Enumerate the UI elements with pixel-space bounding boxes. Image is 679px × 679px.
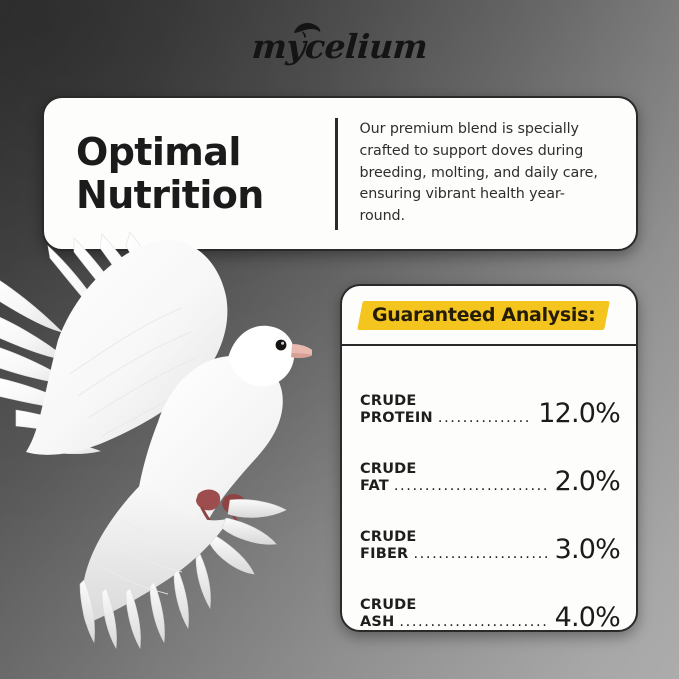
dot-leader: ........................................… [438,410,530,428]
nutrient-category: CRUDE [360,597,547,615]
brand-logo: mycelium [0,24,679,70]
dove-feet [196,490,245,530]
nutrient-value: 2.0% [555,468,620,496]
page-title-line-2: Nutrition [76,174,331,217]
headline-description: Our premium blend is specially crafted t… [360,119,611,228]
analysis-header-label: Guaranteed Analysis: [372,304,595,326]
nutrient-name: FAT [360,478,389,496]
analysis-header: Guaranteed Analysis: [342,286,636,346]
table-row: CRUDE PROTEIN ..........................… [360,360,620,428]
headline-card: Optimal Nutrition Our premium blend is s… [42,96,638,251]
dot-leader: ........................................… [399,614,546,632]
table-row: CRUDE FAT ..............................… [360,428,620,496]
nutrient-value: 4.0% [555,604,620,632]
nutrient-category: CRUDE [360,393,530,411]
brand-name: mycelium [250,24,428,70]
dove-image [0,232,312,652]
dot-leader: ........................................… [394,478,547,496]
dove-eye [276,340,287,351]
page-title: Optimal Nutrition [76,131,331,216]
nutrient-name: ASH [360,614,394,632]
product-marketing-panel: mycelium Optimal Nutrition Our premium b… [0,0,679,679]
nutrient-category: CRUDE [360,529,547,547]
vertical-divider [335,118,338,230]
nutrient-name: PROTEIN [360,410,433,428]
nutrient-name: FIBER [360,546,408,564]
nutrient-category: CRUDE [360,461,547,479]
analysis-header-highlight: Guaranteed Analysis: [360,301,607,330]
analysis-row-list: CRUDE PROTEIN ..........................… [342,346,636,632]
dot-leader: ........................................… [413,546,546,564]
nutrient-value: 3.0% [555,536,620,564]
page-title-line-1: Optimal [76,131,331,174]
table-row: CRUDE FIBER ............................… [360,496,620,564]
table-row: CRUDE ASH ..............................… [360,564,620,632]
nutrient-value: 12.0% [538,400,620,428]
guaranteed-analysis-card: Guaranteed Analysis: CRUDE PROTEIN .....… [340,284,638,632]
